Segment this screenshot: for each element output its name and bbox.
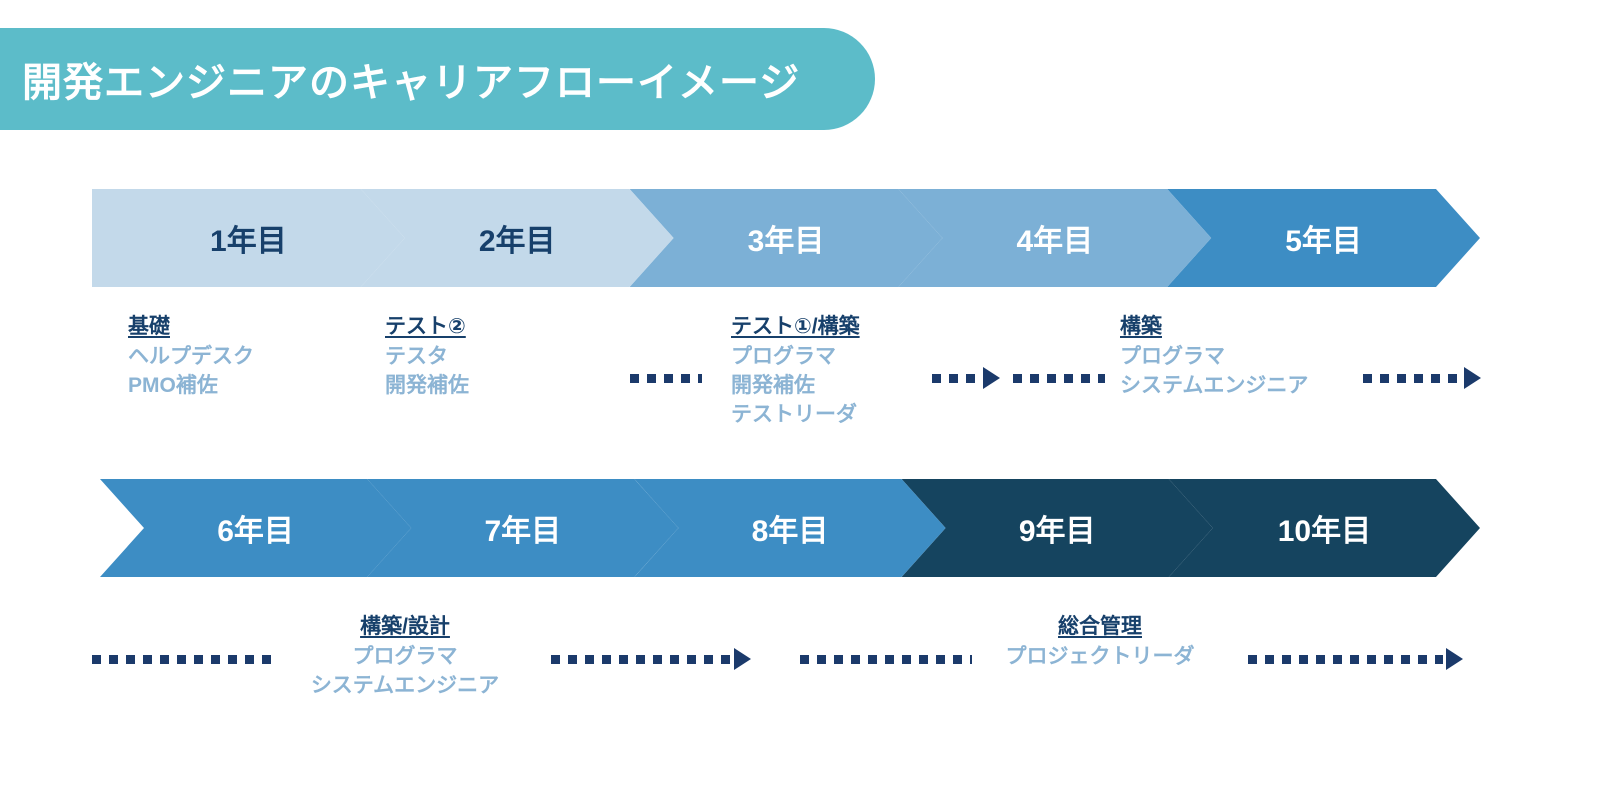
chevron-7年目[interactable]: 7年目 xyxy=(367,479,678,577)
page-title: 開発エンジニアのキャリアフローイメージ xyxy=(22,50,800,108)
job-role-item: システムエンジニア xyxy=(311,672,499,701)
dotted-line xyxy=(932,374,980,383)
dotted-line xyxy=(630,374,702,383)
job-role-item: プログラマ xyxy=(311,643,499,672)
job-group-heading: 構築 xyxy=(1120,313,1308,340)
chevron-5年目[interactable]: 5年目 xyxy=(1167,189,1480,287)
chevron-8年目[interactable]: 8年目 xyxy=(634,479,945,577)
chevron-label: 6年目 xyxy=(217,506,294,550)
dotted-arrow-connector xyxy=(551,652,751,666)
job-role-item: システムエンジニア xyxy=(1120,372,1308,401)
chevron-row-years-6-10: 6年目7年目8年目9年目10年目 xyxy=(100,479,1480,577)
dotted-line xyxy=(800,655,972,664)
title-banner: 開発エンジニアのキャリアフローイメージ xyxy=(0,28,875,130)
job-group-heading: テスト①/構築 xyxy=(731,313,860,340)
arrow-head-icon xyxy=(983,367,1000,389)
arrow-head-icon xyxy=(1464,367,1481,389)
dotted-line xyxy=(551,655,731,664)
dotted-line xyxy=(1363,374,1461,383)
chevron-3年目[interactable]: 3年目 xyxy=(630,189,943,287)
job-group-heading: 基礎 xyxy=(128,313,254,340)
job-group-heading: 構築/設計 xyxy=(311,613,499,640)
arrow-head-icon xyxy=(734,648,751,670)
dotted-line-connector xyxy=(1013,371,1105,385)
job-role-item: ヘルプデスク xyxy=(128,343,254,372)
job-role-item: PMO補佐 xyxy=(128,372,254,401)
arrow-head-icon xyxy=(1446,648,1463,670)
dotted-line xyxy=(92,655,274,664)
job-label-group: 基礎ヘルプデスクPMO補佐 xyxy=(128,313,254,401)
dotted-arrow-connector xyxy=(1363,371,1481,385)
dotted-line xyxy=(1013,374,1105,383)
job-label-group: 構築/設計プログラマシステムエンジニア xyxy=(311,613,499,701)
dotted-line-connector xyxy=(630,371,702,385)
job-group-heading: テスト② xyxy=(385,313,469,340)
job-label-group: 総合管理プロジェクトリーダ xyxy=(1006,613,1195,672)
job-label-group: テスト②テスタ開発補佐 xyxy=(385,313,469,401)
job-role-item: 開発補佐 xyxy=(385,372,469,401)
chevron-1年目[interactable]: 1年目 xyxy=(92,189,405,287)
job-label-group: テスト①/構築プログラマ開発補佐テストリーダ xyxy=(731,313,860,430)
job-role-item: テスタ xyxy=(385,343,469,372)
chevron-label: 7年目 xyxy=(484,506,561,550)
chevron-label: 2年目 xyxy=(479,216,556,260)
job-group-heading: 総合管理 xyxy=(1006,613,1195,640)
job-label-group: 構築プログラマシステムエンジニア xyxy=(1120,313,1308,401)
job-role-item: プログラマ xyxy=(1120,343,1308,372)
chevron-label: 3年目 xyxy=(748,216,825,260)
chevron-10年目[interactable]: 10年目 xyxy=(1169,479,1480,577)
job-role-item: プロジェクトリーダ xyxy=(1006,643,1195,672)
dotted-line-connector xyxy=(800,652,972,666)
chevron-label: 8年目 xyxy=(752,506,829,550)
dotted-line-connector xyxy=(92,652,274,666)
chevron-row-years-1-5: 1年目2年目3年目4年目5年目 xyxy=(92,189,1480,287)
job-role-item: 開発補佐 xyxy=(731,372,860,401)
chevron-9年目[interactable]: 9年目 xyxy=(902,479,1213,577)
chevron-label: 5年目 xyxy=(1285,216,1362,260)
chevron-6年目[interactable]: 6年目 xyxy=(100,479,411,577)
dotted-arrow-connector xyxy=(1248,652,1463,666)
chevron-label: 9年目 xyxy=(1019,506,1096,550)
job-role-item: プログラマ xyxy=(731,343,860,372)
chevron-2年目[interactable]: 2年目 xyxy=(361,189,674,287)
dotted-line xyxy=(1248,655,1443,664)
chevron-4年目[interactable]: 4年目 xyxy=(898,189,1211,287)
dotted-arrow-connector xyxy=(932,371,1000,385)
job-role-item: テストリーダ xyxy=(731,401,860,430)
chevron-label: 1年目 xyxy=(210,216,287,260)
chevron-label: 4年目 xyxy=(1016,216,1093,260)
chevron-label: 10年目 xyxy=(1278,506,1371,550)
